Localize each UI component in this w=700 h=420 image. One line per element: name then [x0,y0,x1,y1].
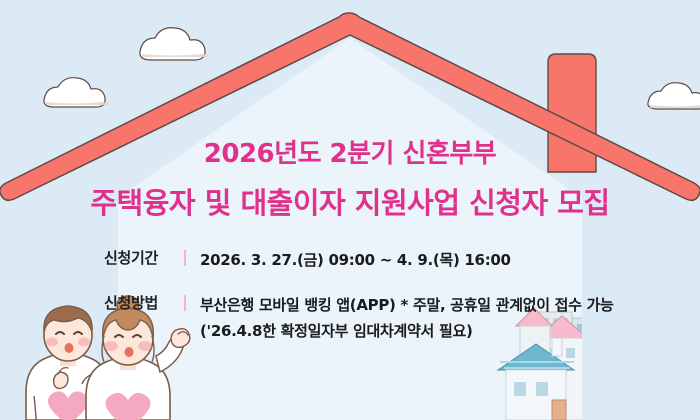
small-chimney-icon [552,338,562,356]
chimney-icon [548,54,596,172]
banner-illustration [0,0,700,420]
promo-banner: 2026년도 2분기 신혼부부 주택융자 및 대출이자 지원사업 신청자 모집 … [0,0,700,420]
